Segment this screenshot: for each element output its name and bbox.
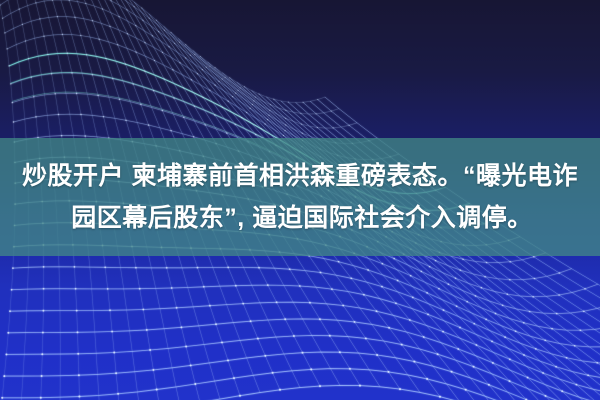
headline-band: 炒股开户 柬埔寨前首相洪森重磅表态。“曝光电诈 园区幕后股东”, 逼迫国际社会介… — [0, 138, 600, 256]
headline-line-1: 炒股开户 柬埔寨前首相洪森重磅表态。“曝光电诈 — [0, 155, 600, 197]
news-banner: 炒股开户 柬埔寨前首相洪森重磅表态。“曝光电诈 园区幕后股东”, 逼迫国际社会介… — [0, 0, 600, 400]
headline-line-2: 园区幕后股东”, 逼迫国际社会介入调停。 — [0, 197, 600, 239]
